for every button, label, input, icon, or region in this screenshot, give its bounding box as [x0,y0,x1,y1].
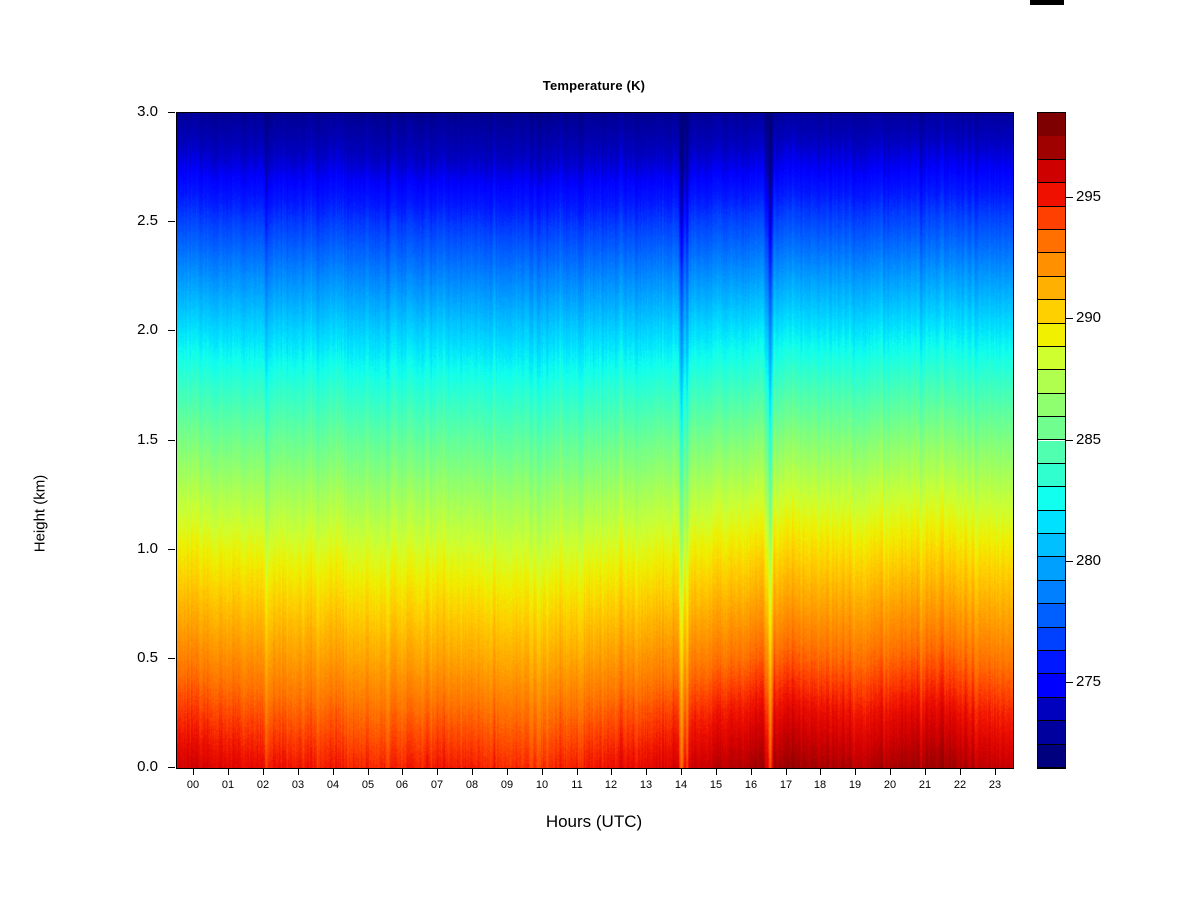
colorbar-tick-label: 275 [1076,673,1101,690]
temperature-heatmap-canvas [177,113,1013,768]
colorbar-cell [1038,230,1065,253]
y-tick-mark [168,767,175,768]
x-tick-mark [646,768,647,775]
x-tick-label: 00 [178,779,208,791]
x-tick-mark [507,768,508,775]
colorbar-cell [1038,417,1065,440]
x-tick-mark [577,768,578,775]
colorbar-cell [1038,253,1065,276]
x-tick-label: 14 [666,779,696,791]
x-tick-label: 07 [422,779,452,791]
x-tick-label: 17 [771,779,801,791]
colorbar-cell [1038,628,1065,651]
colorbar-tick-mark [1065,197,1073,198]
y-tick-label: 0.5 [98,649,158,666]
colorbar-tick-mark [1065,561,1073,562]
colorbar-cell [1038,721,1065,744]
colorbar-cell [1038,347,1065,370]
colorbar-tick-mark [1065,440,1073,441]
x-tick-mark [298,768,299,775]
y-tick-mark [168,440,175,441]
x-tick-mark [855,768,856,775]
x-tick-label: 02 [248,779,278,791]
y-tick-label: 2.5 [98,212,158,229]
colorbar-cell [1038,698,1065,721]
colorbar-cell [1038,136,1065,159]
x-tick-label: 10 [527,779,557,791]
x-tick-mark [263,768,264,775]
x-tick-label: 15 [701,779,731,791]
x-tick-mark [820,768,821,775]
x-tick-mark [437,768,438,775]
colorbar-cell [1038,487,1065,510]
y-tick-label: 0.0 [98,758,158,775]
colorbar-cell [1038,557,1065,580]
x-tick-label: 20 [875,779,905,791]
x-tick-mark [542,768,543,775]
x-tick-label: 08 [457,779,487,791]
x-tick-label: 22 [945,779,975,791]
x-tick-label: 13 [631,779,661,791]
colorbar-cell [1038,113,1065,136]
x-tick-mark [925,768,926,775]
colorbar-cell [1038,581,1065,604]
colorbar-cell [1038,534,1065,557]
colorbar-cell [1038,277,1065,300]
colorbar-cell [1038,370,1065,393]
x-tick-label: 01 [213,779,243,791]
colorbar-tick-label: 280 [1076,552,1101,569]
x-tick-mark [402,768,403,775]
colorbar-cell [1038,207,1065,230]
x-axis-title: Hours (UTC) [176,812,1012,832]
x-tick-label: 16 [736,779,766,791]
x-tick-mark [611,768,612,775]
y-tick-label: 1.0 [98,540,158,557]
colorbar [1037,112,1066,769]
x-tick-mark [890,768,891,775]
top-right-artifact [1030,0,1064,5]
heatmap-plot-area [176,112,1014,769]
x-tick-label: 04 [318,779,348,791]
x-tick-mark [333,768,334,775]
x-tick-label: 11 [562,779,592,791]
x-tick-mark [716,768,717,775]
colorbar-tick-label: 295 [1076,188,1101,205]
colorbar-cell [1038,651,1065,674]
colorbar-cell [1038,183,1065,206]
y-tick-mark [168,330,175,331]
colorbar-cell [1038,160,1065,183]
y-tick-mark [168,112,175,113]
y-axis-title: Height (km) [32,414,49,614]
x-tick-mark [681,768,682,775]
colorbar-tick-mark [1065,318,1073,319]
x-tick-mark [751,768,752,775]
colorbar-cell [1038,441,1065,464]
x-tick-mark [786,768,787,775]
x-tick-label: 09 [492,779,522,791]
y-tick-label: 1.5 [98,431,158,448]
colorbar-cell [1038,394,1065,417]
x-tick-mark [193,768,194,775]
colorbar-tick-label: 285 [1076,431,1101,448]
colorbar-cell [1038,604,1065,627]
colorbar-tick-label: 290 [1076,309,1101,326]
colorbar-cell [1038,511,1065,534]
colorbar-cell [1038,324,1065,347]
x-tick-label: 23 [980,779,1010,791]
colorbar-cell [1038,674,1065,697]
page-title: Temperature (K) [176,78,1012,93]
x-tick-label: 06 [387,779,417,791]
x-tick-mark [960,768,961,775]
y-tick-mark [168,658,175,659]
colorbar-cell [1038,464,1065,487]
x-tick-mark [368,768,369,775]
colorbar-cell [1038,300,1065,323]
x-tick-mark [995,768,996,775]
x-tick-label: 18 [805,779,835,791]
x-tick-label: 19 [840,779,870,791]
y-tick-label: 3.0 [98,103,158,120]
y-tick-label: 2.0 [98,321,158,338]
x-tick-label: 03 [283,779,313,791]
x-tick-label: 12 [596,779,626,791]
x-tick-label: 05 [353,779,383,791]
colorbar-cell [1038,745,1065,768]
colorbar-tick-mark [1065,682,1073,683]
x-tick-mark [472,768,473,775]
y-tick-mark [168,549,175,550]
x-tick-mark [228,768,229,775]
x-tick-label: 21 [910,779,940,791]
y-tick-mark [168,221,175,222]
